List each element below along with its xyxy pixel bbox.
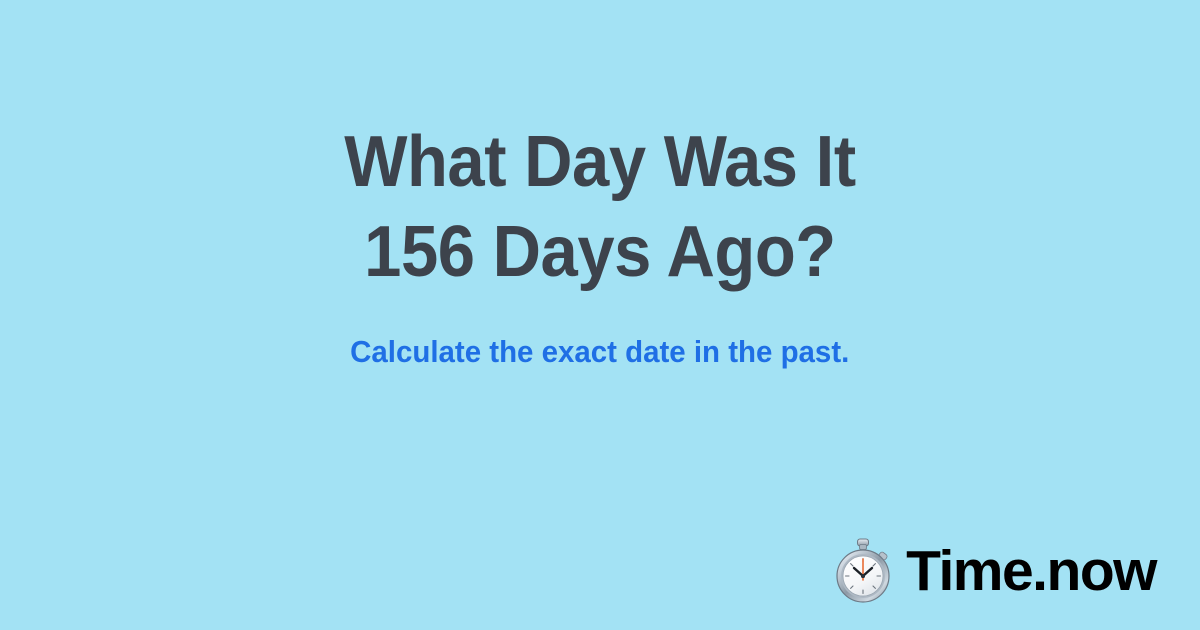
- brand-lockup[interactable]: Time.now: [832, 538, 1156, 604]
- page-title: What Day Was It 156 Days Ago?: [344, 117, 855, 297]
- page-title-line-1: What Day Was It: [344, 117, 855, 207]
- headline-block: What Day Was It 156 Days Ago? Calculate …: [0, 0, 1200, 470]
- page-subtitle: Calculate the exact date in the past.: [350, 333, 849, 371]
- share-card: What Day Was It 156 Days Ago? Calculate …: [0, 0, 1200, 630]
- stopwatch-icon: [832, 538, 894, 604]
- brand-name: Time.now: [906, 543, 1156, 600]
- page-title-line-2: 156 Days Ago?: [344, 207, 855, 297]
